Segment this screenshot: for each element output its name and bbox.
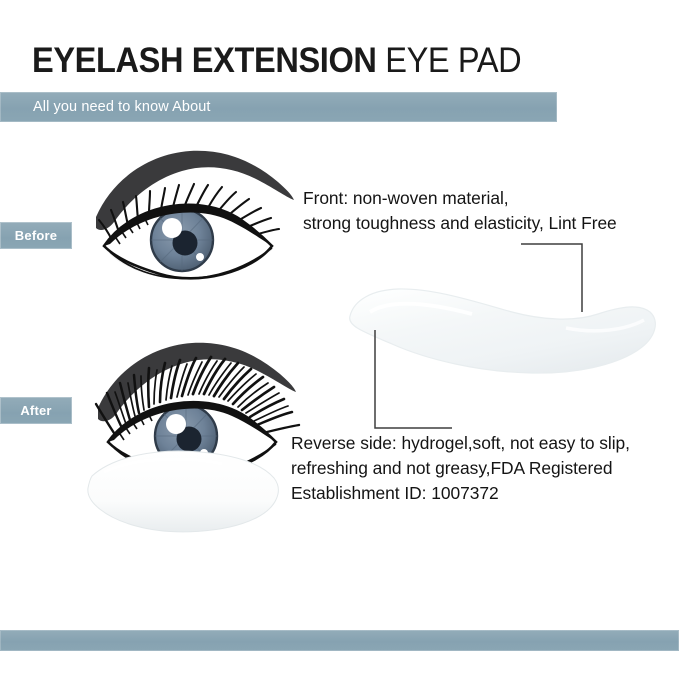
- eye-outline: [104, 205, 272, 279]
- lash-roots: [116, 219, 148, 244]
- callout-reverse: Reverse side: hydrogel,soft, not easy to…: [291, 431, 630, 506]
- lower-lid-line: [114, 444, 276, 475]
- badge-before: Before: [0, 222, 72, 249]
- pad-highlight: [370, 304, 472, 314]
- eyeliner: [104, 205, 272, 246]
- badge-after: After: [0, 397, 72, 424]
- footer-bar: [0, 630, 679, 651]
- subtitle-text: All you need to know About: [33, 99, 211, 115]
- lower-lid-line: [110, 248, 272, 279]
- page-title-strong: EYELASH EXTENSION: [32, 41, 377, 80]
- page-title: EYELASH EXTENSION EYE PAD: [32, 40, 521, 82]
- product-eye-pad-illustration: [330, 232, 670, 392]
- eyeliner: [108, 402, 276, 442]
- badge-after-label: After: [20, 403, 51, 418]
- leader-line-front: [521, 244, 582, 312]
- pad-shape: [350, 289, 656, 373]
- eyebrow-shape: [98, 343, 296, 421]
- lashes-natural: [99, 184, 279, 240]
- iris-group: [155, 405, 217, 467]
- callout-front: Front: non-woven material, strong toughn…: [303, 186, 617, 236]
- badge-before-label: Before: [15, 228, 57, 243]
- lashes-extensions: [96, 357, 299, 436]
- lash-roots: [120, 415, 152, 440]
- leader-line-reverse: [375, 330, 452, 428]
- applied-eye-pad: [88, 451, 278, 532]
- eyebrow-shape: [96, 151, 294, 230]
- under-eye-shade: [104, 248, 274, 279]
- before-eye-illustration: [86, 140, 316, 310]
- iris-group: [151, 209, 213, 271]
- pad-highlight-2: [566, 320, 644, 331]
- page-title-light: EYE PAD: [377, 41, 522, 80]
- eye-outline: [108, 402, 276, 474]
